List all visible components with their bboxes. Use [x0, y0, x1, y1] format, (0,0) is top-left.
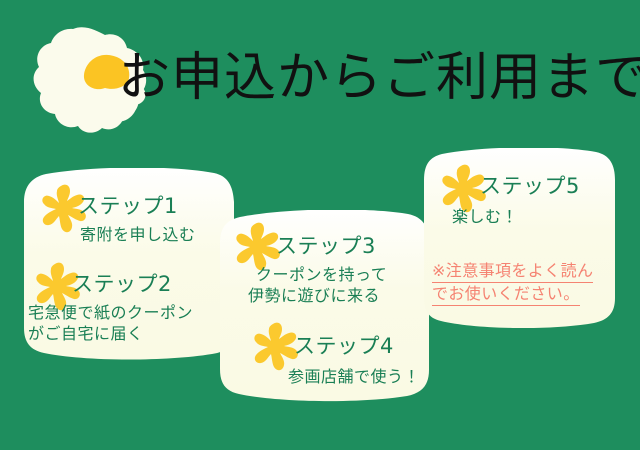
step-card-2: ステップ3 クーポンを持って 伊勢に遊びに来る ステップ4 参画店舗で使う！: [218, 210, 432, 402]
page-title: お申込からご利用まで: [118, 48, 640, 108]
step-label: ステップ4: [294, 334, 394, 358]
step-card-3: ステップ5 楽しむ！ ※注意事項をよく読ん でお使いください。: [422, 148, 618, 328]
step-label: ステップ1: [78, 194, 178, 218]
promo-graphic: お申込からご利用まで ステップ1 寄附を申し込む: [0, 0, 640, 450]
header: お申込からご利用まで: [0, 0, 640, 150]
step-description-line: 楽しむ！: [452, 206, 518, 227]
caution-note-line-1: ※注意事項をよく読ん: [432, 260, 593, 283]
step-description-line: がご自宅に届く: [28, 323, 144, 344]
step-description-line: 伊勢に遊びに来る: [248, 285, 380, 306]
step-label: ステップ3: [276, 234, 376, 258]
step-card-1: ステップ1 寄附を申し込む ステップ2 宅急便で紙のクーポン がご自宅に届く: [22, 168, 236, 360]
step-label: ステップ5: [480, 174, 580, 198]
step-description-line: 寄附を申し込む: [80, 224, 196, 245]
step-label: ステップ2: [72, 272, 172, 296]
step-description-line: 宅急便で紙のクーポン: [28, 302, 193, 323]
caution-note-line-2: でお使いください。: [432, 283, 580, 306]
step-description-line: クーポンを持って: [256, 264, 387, 285]
step-description-line: 参画店舗で使う！: [288, 366, 420, 387]
caution-note[interactable]: ※注意事項をよく読ん でお使いください。: [432, 260, 593, 306]
